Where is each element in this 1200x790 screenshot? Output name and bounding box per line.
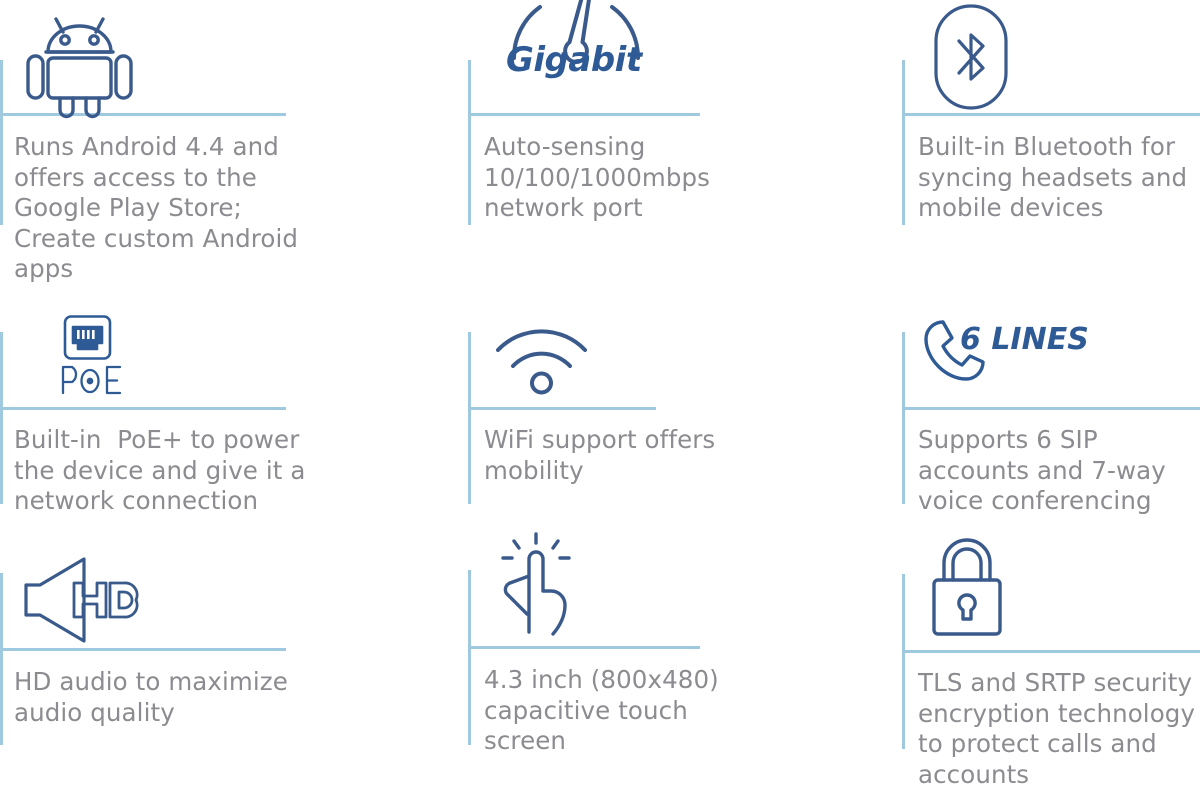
feature-caption: 4.3 inch (800x480) capacitive touch scre…	[484, 665, 764, 757]
accent-horizontal-rule	[2, 648, 286, 651]
feature-caption: Built-in PoE+ to power the device and gi…	[14, 425, 314, 517]
hd-speaker-icon	[22, 555, 144, 645]
gigabit-wordmark: Gigabit	[506, 40, 642, 80]
accent-horizontal-rule	[471, 113, 700, 116]
accent-vertical-rule	[468, 60, 471, 225]
accent-horizontal-rule	[2, 407, 286, 410]
accent-horizontal-rule	[905, 650, 1200, 653]
feature-grid: Runs Android 4.4 and offers access to th…	[0, 0, 1200, 773]
feature-caption: Auto-sensing 10/100/1000mbps network por…	[484, 132, 764, 224]
feature-card-gigabit: Gigabit Auto-sensing 10/100/1000mbps net…	[468, 0, 868, 280]
accent-horizontal-rule	[905, 407, 1200, 410]
accent-vertical-rule	[902, 332, 905, 504]
feature-card-touchscreen: 4.3 inch (800x480) capacitive touch scre…	[468, 520, 868, 773]
feature-caption: TLS and SRTP security encryption technol…	[918, 668, 1200, 790]
feature-card-wifi: WiFi support offers mobility	[468, 300, 868, 540]
padlock-icon	[930, 538, 1004, 636]
feature-caption: Runs Android 4.4 and offers access to th…	[14, 132, 314, 285]
feature-caption: WiFi support offers mobility	[484, 425, 764, 486]
accent-horizontal-rule	[471, 407, 656, 410]
accent-horizontal-rule	[905, 113, 1200, 116]
feature-card-poe: Built-in PoE+ to power the device and gi…	[0, 300, 400, 540]
feature-caption: Supports 6 SIP accounts and 7-way voice …	[918, 425, 1200, 517]
feature-caption: Built-in Bluetooth for syncing headsets …	[918, 132, 1200, 224]
feature-card-android: Runs Android 4.4 and offers access to th…	[0, 0, 400, 280]
six-lines-wordmark: 6 LINES	[960, 322, 1089, 357]
bluetooth-icon	[934, 4, 1008, 110]
poe-ethernet-jack-icon	[58, 315, 124, 395]
accent-vertical-rule	[902, 60, 905, 225]
feature-card-security-lock: TLS and SRTP security encryption technol…	[902, 530, 1200, 773]
feature-caption: HD audio to maximize audio quality	[14, 667, 334, 728]
accent-vertical-rule	[468, 332, 471, 504]
feature-card-6-lines: 6 LINES Supports 6 SIP accounts and 7-wa…	[902, 300, 1200, 540]
accent-vertical-rule	[468, 570, 471, 745]
feature-card-hd-audio: HD audio to maximize audio quality	[0, 545, 400, 773]
accent-horizontal-rule	[471, 646, 700, 649]
accent-vertical-rule	[0, 573, 3, 745]
feature-card-bluetooth: Built-in Bluetooth for syncing headsets …	[902, 0, 1200, 280]
accent-vertical-rule	[0, 332, 3, 504]
tap-hand-icon	[494, 532, 580, 640]
wifi-signal-icon	[494, 322, 589, 394]
android-robot-icon	[22, 3, 137, 115]
accent-vertical-rule	[902, 574, 905, 749]
accent-vertical-rule	[0, 60, 3, 225]
